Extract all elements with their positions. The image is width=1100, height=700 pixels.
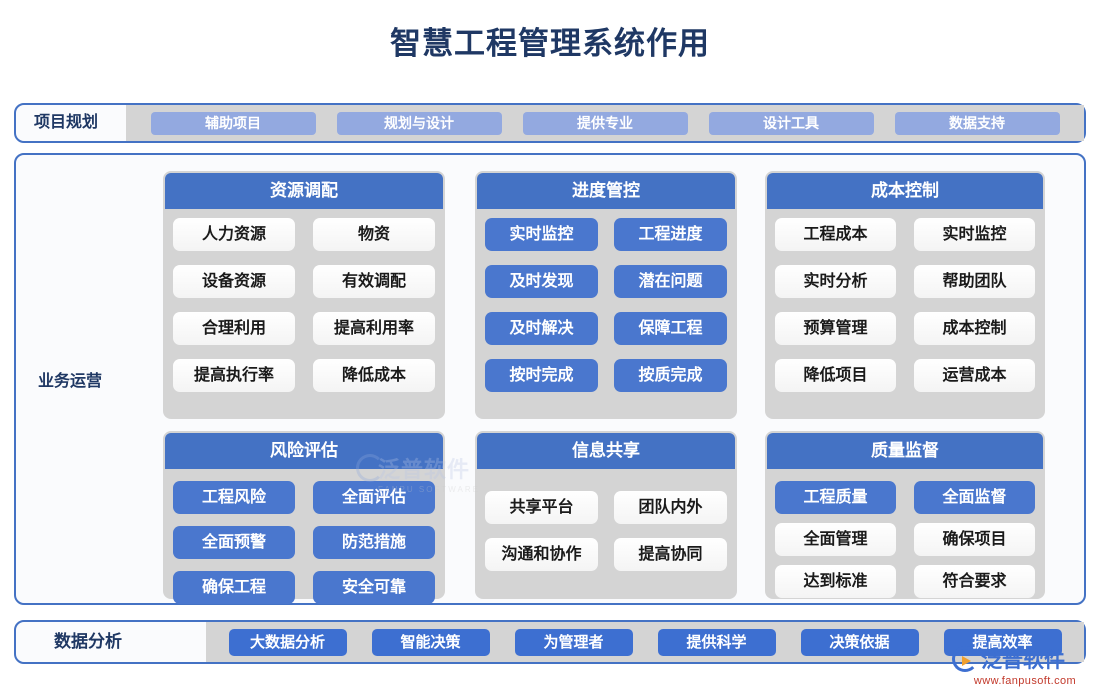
group-chip-list: 工程成本 实时监控 实时分析 帮助团队 预算管理 成本控制 降低项目 运营成本 bbox=[765, 209, 1045, 415]
chip[interactable]: 降低项目 bbox=[775, 359, 896, 392]
project-planning-pill[interactable]: 规划与设计 bbox=[337, 112, 502, 135]
chip[interactable]: 工程质量 bbox=[775, 481, 896, 514]
chip[interactable]: 实时监控 bbox=[485, 218, 598, 251]
data-analysis-band: 数据分析 大数据分析 智能决策 为管理者 提供科学 决策依据 提高效率 bbox=[14, 620, 1086, 664]
chip[interactable]: 预算管理 bbox=[775, 312, 896, 345]
chip[interactable]: 成本控制 bbox=[914, 312, 1035, 345]
chip[interactable]: 全面监督 bbox=[914, 481, 1035, 514]
group-risk-assessment: 风险评估 工程风险 全面评估 全面预警 防范措施 确保工程 安全可靠 bbox=[163, 431, 445, 599]
chip[interactable]: 提高利用率 bbox=[313, 312, 435, 345]
chip[interactable]: 运营成本 bbox=[914, 359, 1035, 392]
chip[interactable]: 工程成本 bbox=[775, 218, 896, 251]
chip[interactable]: 及时解决 bbox=[485, 312, 598, 345]
chip[interactable]: 实时分析 bbox=[775, 265, 896, 298]
chip[interactable]: 符合要求 bbox=[914, 565, 1035, 598]
group-chip-list: 共享平台 团队内外 沟通和协作 提高协同 bbox=[475, 469, 737, 594]
business-operations-label: 业务运营 bbox=[38, 367, 102, 391]
chip[interactable]: 物资 bbox=[313, 218, 435, 251]
chip[interactable]: 共享平台 bbox=[485, 491, 598, 524]
page-title: 智慧工程管理系统作用 bbox=[0, 18, 1100, 63]
data-analysis-label: 数据分析 bbox=[54, 622, 122, 662]
data-analysis-pill[interactable]: 为管理者 bbox=[515, 629, 633, 656]
project-planning-pill[interactable]: 设计工具 bbox=[709, 112, 874, 135]
chip[interactable]: 及时发现 bbox=[485, 265, 598, 298]
group-resource-allocation: 资源调配 人力资源 物资 设备资源 有效调配 合理利用 提高利用率 提高执行率 … bbox=[163, 171, 445, 419]
project-planning-band: 项目规划 辅助项目 规划与设计 提供专业 设计工具 数据支持 bbox=[14, 103, 1086, 143]
chip[interactable]: 实时监控 bbox=[914, 218, 1035, 251]
group-title: 质量监督 bbox=[767, 433, 1043, 469]
chip[interactable]: 确保工程 bbox=[173, 571, 295, 604]
operations-group-grid: 资源调配 人力资源 物资 设备资源 有效调配 合理利用 提高利用率 提高执行率 … bbox=[134, 163, 1074, 599]
chip[interactable]: 工程进度 bbox=[614, 218, 727, 251]
chip[interactable]: 达到标准 bbox=[775, 565, 896, 598]
group-title: 风险评估 bbox=[165, 433, 443, 469]
chip[interactable]: 有效调配 bbox=[313, 265, 435, 298]
chip[interactable]: 人力资源 bbox=[173, 218, 295, 251]
chip[interactable]: 确保项目 bbox=[914, 523, 1035, 556]
chip[interactable]: 沟通和协作 bbox=[485, 538, 598, 571]
project-planning-pill-strip: 辅助项目 规划与设计 提供专业 设计工具 数据支持 bbox=[126, 105, 1084, 141]
chip[interactable]: 降低成本 bbox=[313, 359, 435, 392]
data-analysis-pill[interactable]: 大数据分析 bbox=[229, 629, 347, 656]
chip[interactable]: 团队内外 bbox=[614, 491, 727, 524]
chip[interactable]: 按质完成 bbox=[614, 359, 727, 392]
chip[interactable]: 设备资源 bbox=[173, 265, 295, 298]
project-planning-pill[interactable]: 数据支持 bbox=[895, 112, 1060, 135]
business-operations-band: 业务运营 资源调配 人力资源 物资 设备资源 有效调配 合理利用 提高利用率 提… bbox=[14, 153, 1086, 605]
group-title: 资源调配 bbox=[165, 173, 443, 209]
chip[interactable]: 提高执行率 bbox=[173, 359, 295, 392]
group-chip-list: 人力资源 物资 设备资源 有效调配 合理利用 提高利用率 提高执行率 降低成本 bbox=[163, 209, 445, 415]
chip[interactable]: 潜在问题 bbox=[614, 265, 727, 298]
group-quality-supervision: 质量监督 工程质量 全面监督 全面管理 确保项目 达到标准 符合要求 bbox=[765, 431, 1045, 599]
project-planning-label: 项目规划 bbox=[34, 105, 98, 141]
chip[interactable]: 全面预警 bbox=[173, 526, 295, 559]
chip[interactable]: 保障工程 bbox=[614, 312, 727, 345]
chip[interactable]: 工程风险 bbox=[173, 481, 295, 514]
data-analysis-pill[interactable]: 提高效率 bbox=[944, 629, 1062, 656]
data-analysis-pill[interactable]: 提供科学 bbox=[658, 629, 776, 656]
chip[interactable]: 按时完成 bbox=[485, 359, 598, 392]
group-title: 信息共享 bbox=[477, 433, 735, 469]
chip[interactable]: 提高协同 bbox=[614, 538, 727, 571]
group-chip-list: 实时监控 工程进度 及时发现 潜在问题 及时解决 保障工程 按时完成 按质完成 bbox=[475, 209, 737, 415]
project-planning-pill[interactable]: 辅助项目 bbox=[151, 112, 316, 135]
project-planning-pill[interactable]: 提供专业 bbox=[523, 112, 688, 135]
group-title: 进度管控 bbox=[477, 173, 735, 209]
chip[interactable]: 帮助团队 bbox=[914, 265, 1035, 298]
group-chip-list: 工程质量 全面监督 全面管理 确保项目 达到标准 符合要求 bbox=[765, 469, 1045, 616]
data-analysis-pill[interactable]: 决策依据 bbox=[801, 629, 919, 656]
chip[interactable]: 安全可靠 bbox=[313, 571, 435, 604]
group-schedule-control: 进度管控 实时监控 工程进度 及时发现 潜在问题 及时解决 保障工程 按时完成 … bbox=[475, 171, 737, 419]
data-analysis-pill[interactable]: 智能决策 bbox=[372, 629, 490, 656]
data-analysis-pill-strip: 大数据分析 智能决策 为管理者 提供科学 决策依据 提高效率 bbox=[206, 622, 1084, 662]
chip[interactable]: 全面管理 bbox=[775, 523, 896, 556]
chip[interactable]: 防范措施 bbox=[313, 526, 435, 559]
chip[interactable]: 全面评估 bbox=[313, 481, 435, 514]
group-information-sharing: 信息共享 共享平台 团队内外 沟通和协作 提高协同 bbox=[475, 431, 737, 599]
group-title: 成本控制 bbox=[767, 173, 1043, 209]
chip[interactable]: 合理利用 bbox=[173, 312, 295, 345]
group-chip-list: 工程风险 全面评估 全面预警 防范措施 确保工程 安全可靠 bbox=[163, 469, 445, 625]
group-cost-control: 成本控制 工程成本 实时监控 实时分析 帮助团队 预算管理 成本控制 降低项目 … bbox=[765, 171, 1045, 419]
logo-url: www.fanpusoft.com bbox=[952, 675, 1098, 687]
